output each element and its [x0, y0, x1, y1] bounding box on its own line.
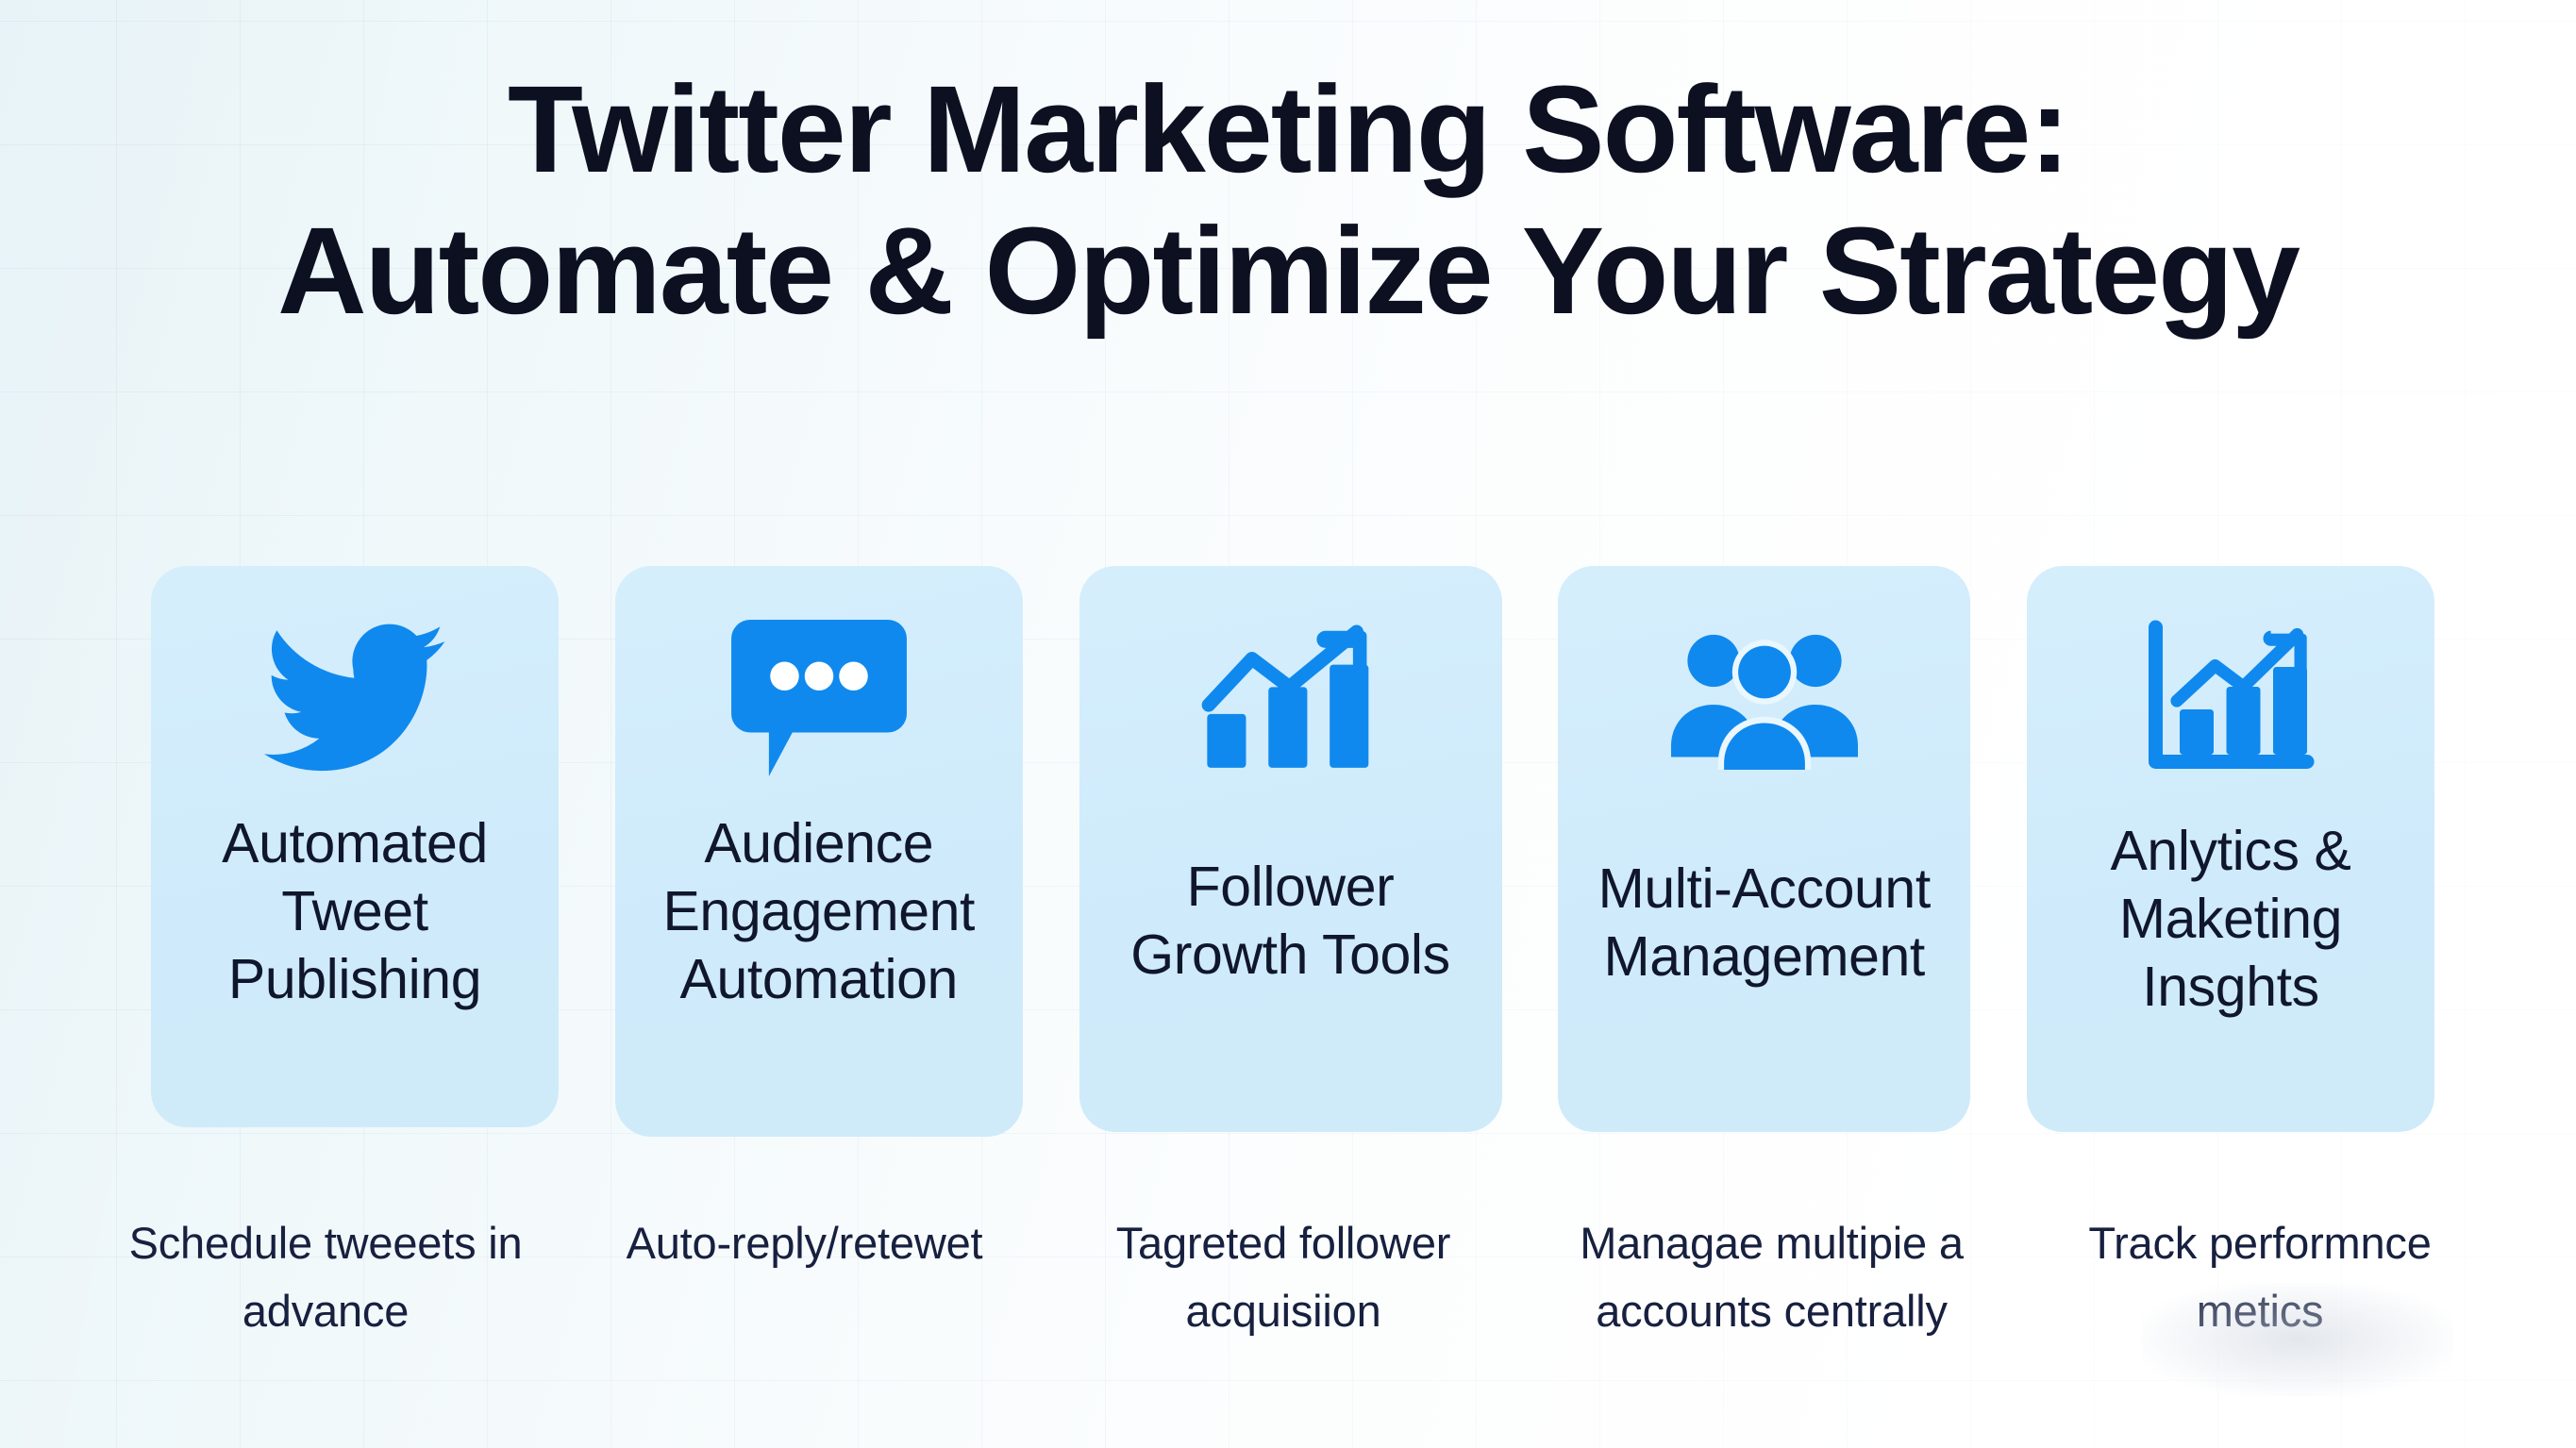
- page-title: Twitter Marketing Software: Automate & O…: [0, 58, 2576, 341]
- feature-caption: Track performnce metics: [2038, 1209, 2482, 1345]
- twitter-bird-icon: [262, 566, 447, 768]
- chat-bubble-dots-icon: [731, 566, 907, 772]
- page-title-line-2: Automate & Optimize Your Strategy: [0, 200, 2576, 341]
- feature-caption: Auto-reply/retewet: [583, 1209, 1027, 1277]
- feature-card-title: Anlytics & Maketing Insghts: [2027, 817, 2434, 1021]
- feature-card-audience-engagement-automation[interactable]: Audience Engagement Automation: [615, 566, 1023, 1137]
- caption-row: Schedule tweeets in advance Auto-reply/r…: [104, 1209, 2482, 1345]
- analytics-bar-chart-icon: [2141, 566, 2320, 775]
- feature-card-title: Multi-Account Management: [1558, 855, 1970, 990]
- feature-card-title: Automated Tweet Publishing: [151, 809, 559, 1013]
- feature-caption: Schedule tweeets in advance: [104, 1209, 547, 1345]
- feature-card-analytics-marketing-insights[interactable]: Anlytics & Maketing Insghts: [2027, 566, 2434, 1132]
- feature-card-follower-growth-tools[interactable]: Follower Growth Tools: [1079, 566, 1502, 1132]
- feature-card-automated-tweet-publishing[interactable]: Automated Tweet Publishing: [151, 566, 559, 1127]
- feature-card-title: Audience Engagement Automation: [615, 809, 1023, 1013]
- feature-card-title: Follower Growth Tools: [1079, 853, 1502, 989]
- page-title-line-1: Twitter Marketing Software:: [0, 58, 2576, 200]
- feature-caption: Managae multipie a accounts centrally: [1541, 1209, 2003, 1345]
- infographic-page: Twitter Marketing Software: Automate & O…: [0, 0, 2576, 1448]
- feature-card-multi-account-management[interactable]: Multi-Account Management: [1558, 566, 1970, 1132]
- feature-card-row: Automated Tweet Publishing Audience Enga…: [151, 566, 2434, 1137]
- users-group-icon: [1665, 566, 1864, 772]
- growth-bar-arrow-icon: [1201, 566, 1380, 774]
- feature-caption: Tagreted follower acquisiion: [1062, 1209, 1505, 1345]
